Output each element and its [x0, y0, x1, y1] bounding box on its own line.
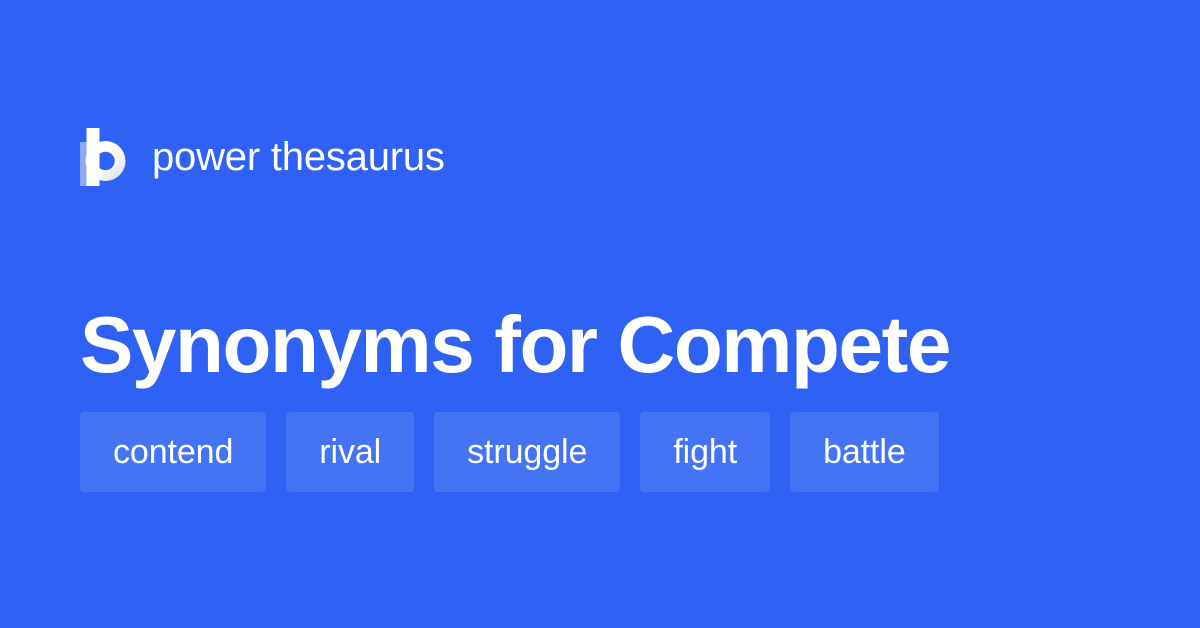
synonym-chip[interactable]: rival	[286, 412, 414, 492]
power-thesaurus-b-logo-icon	[80, 128, 126, 186]
synonym-chip[interactable]: contend	[80, 412, 266, 492]
og-card: Power thesaurus Synonyms for Compete con…	[0, 0, 1200, 628]
synonym-chip-list: contend rival struggle fight battle	[80, 412, 939, 492]
brand-lockup[interactable]: Power thesaurus	[80, 126, 445, 188]
page-title: Synonyms for Compete	[80, 297, 1120, 393]
synonym-chip[interactable]: struggle	[434, 412, 620, 492]
synonym-chip[interactable]: fight	[640, 412, 770, 492]
synonym-chip[interactable]: battle	[790, 412, 939, 492]
brand-name: Power thesaurus	[152, 137, 445, 177]
